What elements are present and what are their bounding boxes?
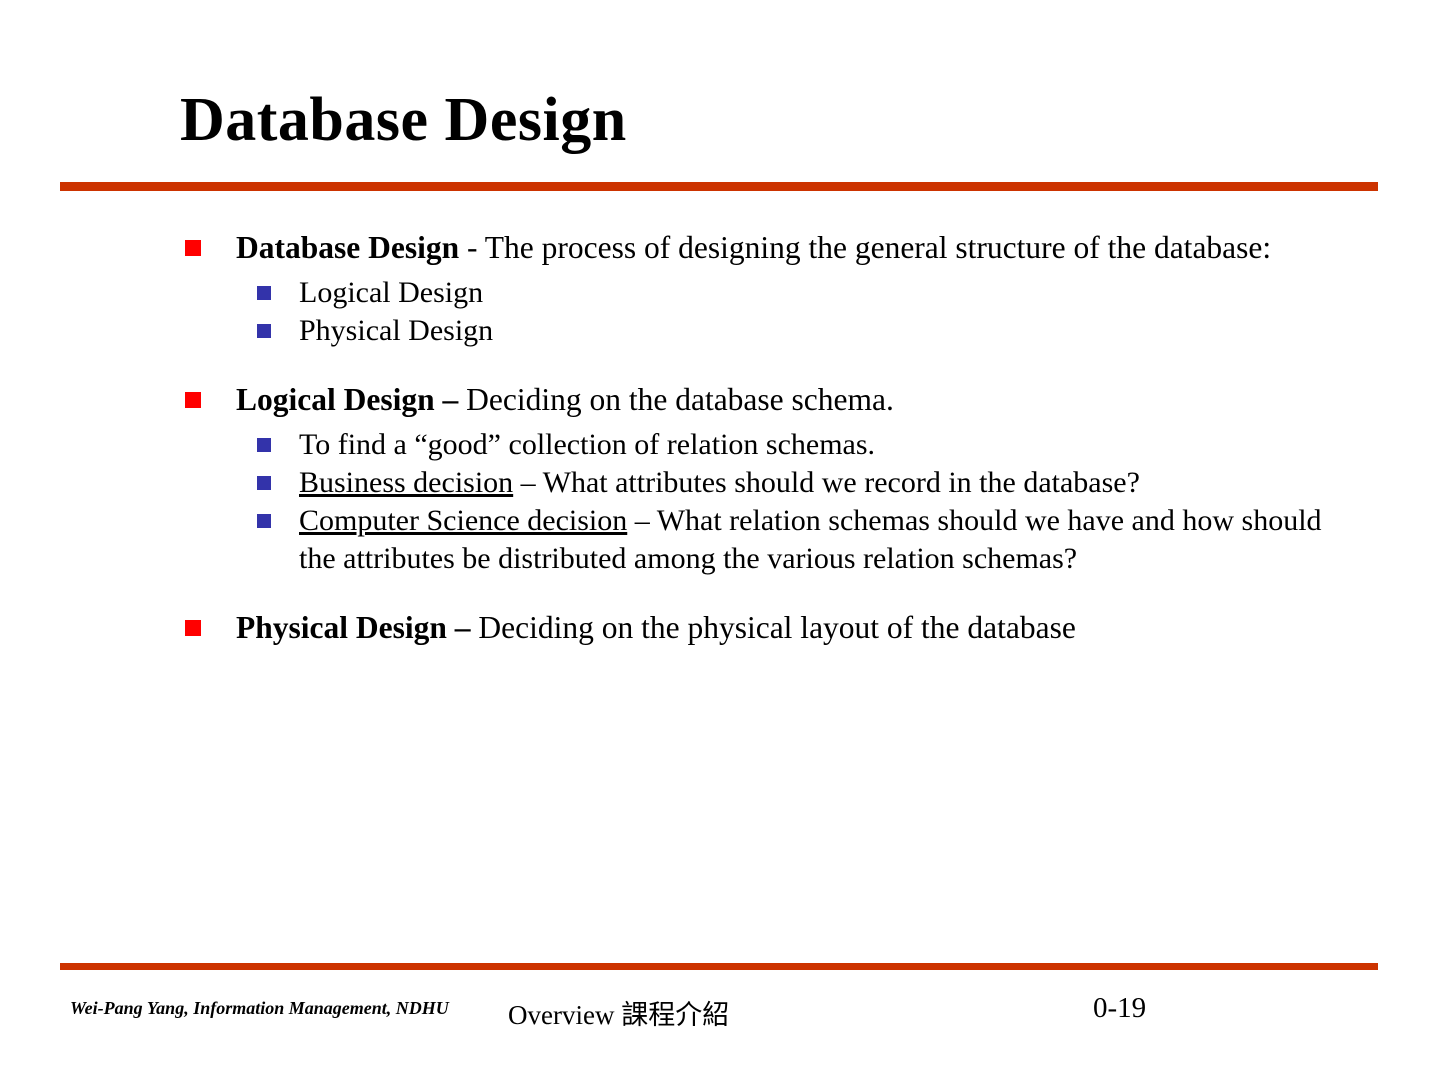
bullet-item-database-design: Database Design - The process of designi… [0, 228, 1440, 268]
footer-divider-rule [60, 963, 1378, 970]
square-bullet-icon [257, 476, 271, 490]
page-title: Database Design [180, 88, 627, 153]
bullet-item-physical-design: Physical Design – Deciding on the physic… [0, 608, 1440, 648]
sub-bullet-label: Physical Design [299, 314, 493, 347]
footer-page-number: 0-19 [1093, 992, 1146, 1025]
square-bullet-icon [185, 392, 201, 408]
slide-body: Database Design - The process of designi… [0, 228, 1440, 648]
bullet-lead-text: Logical Design – [236, 382, 458, 417]
bullet-body-text: Deciding on the database schema. [458, 382, 894, 417]
slide: Database Design Database Design - The pr… [0, 0, 1440, 1080]
sub-bullet-physical-design: Physical Design [0, 312, 1440, 350]
sub-bullet-business-decision: Business decision – What attributes shou… [0, 464, 1440, 502]
spacer [0, 350, 1440, 380]
square-bullet-icon [257, 286, 271, 300]
footer-author: Wei-Pang Yang, Information Management, N… [70, 998, 449, 1019]
footer-section-label: Overview 課程介紹 [508, 993, 729, 1032]
square-bullet-icon [185, 620, 201, 636]
spacer [0, 578, 1440, 608]
square-bullet-icon [257, 324, 271, 338]
sub-bullet-label: – What attributes should we record in th… [513, 466, 1140, 499]
bullet-lead-text: Database Design [236, 230, 459, 265]
bullet-lead-text: Physical Design – [236, 610, 471, 645]
sub-bullet-underlined-term: Business decision [299, 466, 513, 499]
square-bullet-icon [185, 240, 201, 256]
title-divider-rule [60, 182, 1378, 191]
sub-bullet-good-collection: To find a “good” collection of relation … [0, 426, 1440, 464]
sub-bullet-cs-decision: Computer Science decision – What relatio… [0, 502, 1440, 578]
sub-bullet-logical-design: Logical Design [0, 274, 1440, 312]
bullet-item-logical-design: Logical Design – Deciding on the databas… [0, 380, 1440, 420]
sub-bullet-label: Logical Design [299, 276, 483, 309]
square-bullet-icon [257, 438, 271, 452]
bullet-body-text: - The process of designing the general s… [459, 230, 1271, 265]
bullet-body-text: Deciding on the physical layout of the d… [471, 610, 1076, 645]
square-bullet-icon [257, 514, 271, 528]
sub-bullet-label: To find a “good” collection of relation … [299, 428, 875, 461]
sub-bullet-underlined-term: Computer Science decision [299, 504, 627, 537]
